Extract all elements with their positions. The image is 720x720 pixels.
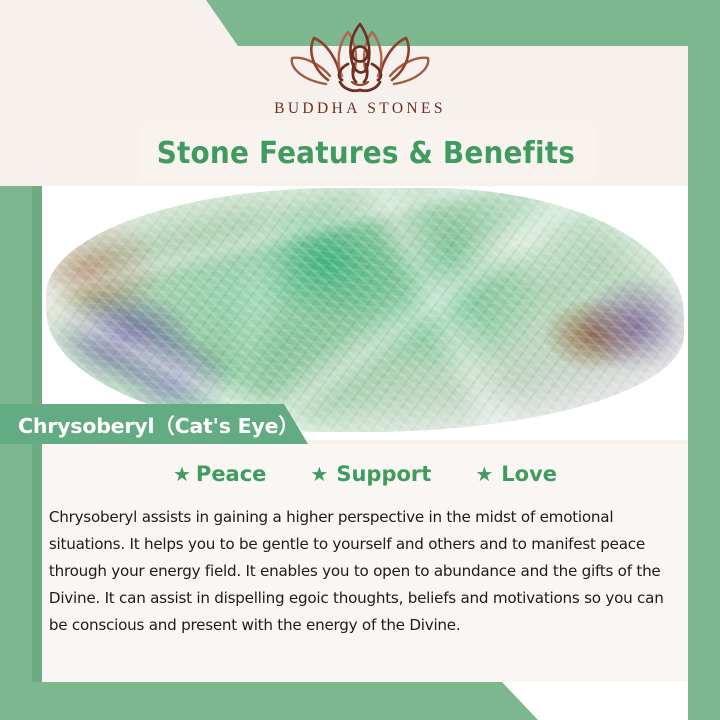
frame-left-bar [0,186,32,720]
keyword-list: ★ Peace ★ Support ★ Love [42,462,688,486]
page-title: Stone Features & Benefits [157,136,575,171]
stone-photo [42,186,688,440]
stone-name-ribbon: Chrysoberyl（Cat's Eye） [0,404,308,444]
stone-name-label: Chrysoberyl（Cat's Eye） [0,409,299,439]
stone-image-graphic [42,186,688,440]
keyword-label: Love [501,462,557,486]
star-icon: ★ [173,464,191,484]
star-icon: ★ [475,464,493,484]
keyword-label: Peace [196,462,267,486]
brand-logo: BUDDHA STONES [0,18,720,118]
frame-left-bevel [32,186,42,720]
stone-body [46,188,684,432]
keyword-peace: ★ Peace [173,462,266,486]
keyword-label: Support [336,462,431,486]
brand-wordmark: BUDDHA STONES [0,100,720,118]
lotus-meditation-icon [282,18,438,96]
stone-description: Chrysoberyl assists in gaining a higher … [42,504,678,639]
page-title-banner: Stone Features & Benefits [138,126,594,180]
star-icon: ★ [310,464,328,484]
stone-info-card: BUDDHA STONES Stone Features & Benefits … [0,0,720,720]
keyword-love: ★ Love [475,462,557,486]
keyword-support: ★ Support [310,462,431,486]
content-panel: ★ Peace ★ Support ★ Love Chrysoberyl ass… [42,444,688,682]
stone-edge-highlight [46,188,684,432]
